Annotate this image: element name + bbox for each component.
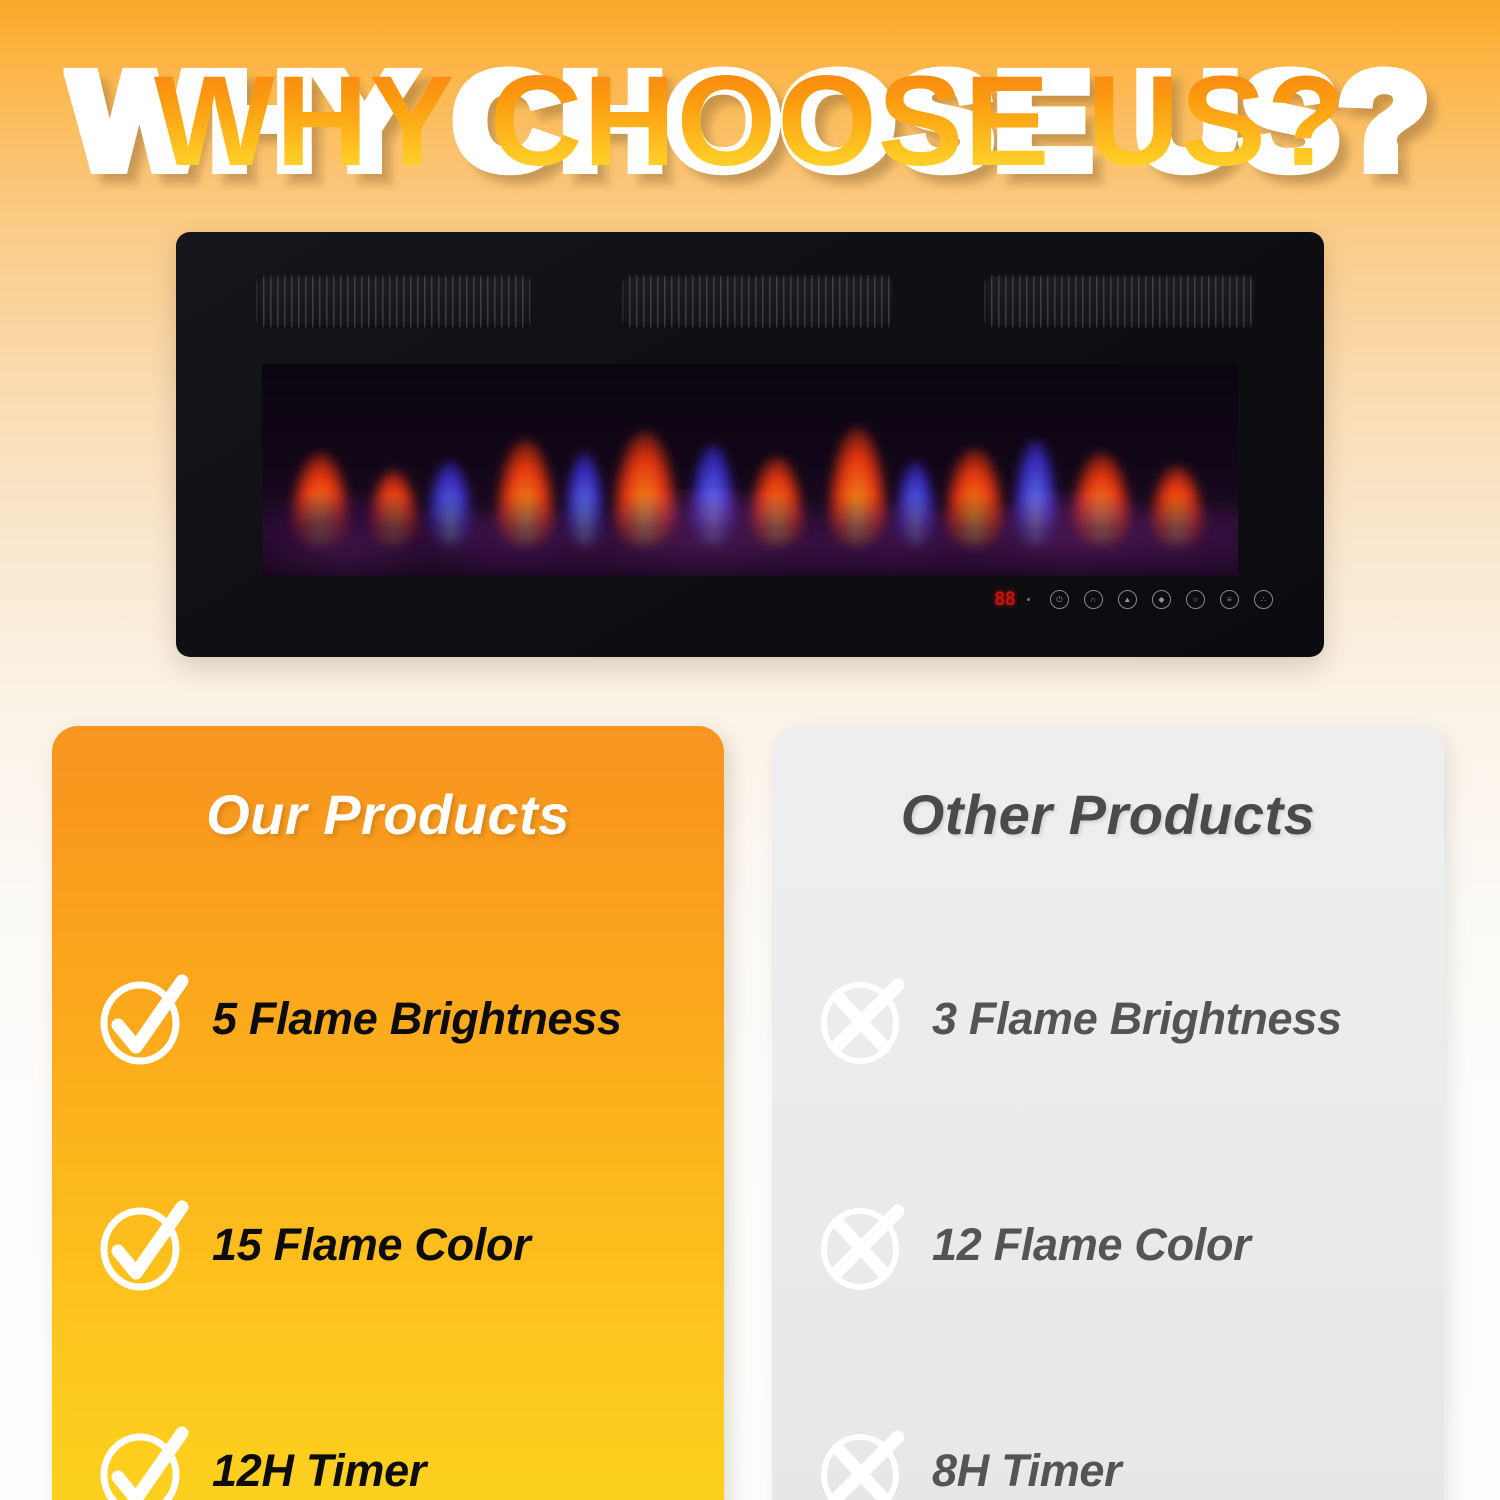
led-value: 88 [994, 590, 1015, 609]
feature-label: 12H Timer [212, 1445, 426, 1497]
cross-icon [818, 1199, 910, 1291]
flame-icon: ▲ [1123, 596, 1131, 604]
panel-our-products: Our Products 5 Flame Brightness [52, 726, 724, 1500]
feature-label: 15 Flame Color [212, 1219, 530, 1271]
flame-button[interactable]: ▲ [1118, 590, 1137, 609]
vent-grille-middle [622, 275, 894, 328]
feature-row: 15 Flame Color [52, 1132, 724, 1358]
led-indicator-dot [1027, 598, 1030, 601]
power-icon: ⏻ [1056, 596, 1062, 604]
cross-icon [818, 1425, 910, 1500]
feature-row: 12 Flame Color [772, 1132, 1444, 1358]
vent-grille-right [984, 275, 1256, 328]
feature-label: 5 Flame Brightness [212, 993, 622, 1045]
title-fill-layer: WHY CHOOSE US? [154, 50, 1346, 193]
log-bed-silhouette [262, 495, 1238, 576]
page-title: WHY CHOOSE US? WHY CHOOSE US? WHY CHOOSE… [0, 58, 1500, 186]
fireplace-glass-window [262, 364, 1238, 576]
mode-icon: ∴ [1261, 596, 1266, 604]
power-button[interactable]: ⏻ [1050, 590, 1069, 609]
mode-button[interactable]: ∴ [1254, 590, 1273, 609]
panel-title-other-products: Other Products [772, 782, 1444, 847]
title-outline-layer: WHY CHOOSE US? [70, 54, 1429, 190]
feature-label: 12 Flame Color [932, 1219, 1250, 1271]
brightness-icon: ◆ [1158, 596, 1164, 604]
feature-row: 3 Flame Brightness [772, 906, 1444, 1132]
check-icon [98, 973, 190, 1065]
temperature-button[interactable]: ≡ [1220, 590, 1239, 609]
feature-list-other-products: 3 Flame Brightness 12 Flame Color [772, 906, 1444, 1500]
feature-row: 12H Timer [52, 1358, 724, 1500]
check-icon [98, 1425, 190, 1500]
product-image-fireplace: 88 ⏻ ∩ ▲ ◆ ○ ≡ ∴ [176, 232, 1324, 657]
led-display: 88 [994, 590, 1015, 609]
feature-label: 8H Timer [932, 1445, 1121, 1497]
cross-icon [818, 973, 910, 1065]
heat-button[interactable]: ∩ [1084, 590, 1103, 609]
panel-other-products: Other Products 3 Flame Brightness [772, 726, 1444, 1500]
title-shadow-layer: WHY CHOOSE US? [81, 65, 1440, 201]
brightness-button[interactable]: ◆ [1152, 590, 1171, 609]
feature-list-our-products: 5 Flame Brightness 15 Flame Color [52, 906, 724, 1500]
panel-title-our-products: Our Products [52, 782, 724, 847]
vent-grille-left [256, 275, 532, 328]
timer-button[interactable]: ○ [1186, 590, 1205, 609]
feature-label: 3 Flame Brightness [932, 993, 1342, 1045]
heat-icon: ∩ [1091, 596, 1097, 604]
feature-row: 8H Timer [772, 1358, 1444, 1500]
check-icon [98, 1199, 190, 1291]
title-stack: WHY CHOOSE US? WHY CHOOSE US? WHY CHOOSE… [154, 58, 1346, 186]
feature-row: 5 Flame Brightness [52, 906, 724, 1132]
temperature-icon: ≡ [1227, 596, 1232, 604]
timer-icon: ○ [1193, 596, 1198, 604]
control-panel[interactable]: 88 ⏻ ∩ ▲ ◆ ○ ≡ ∴ [994, 590, 1273, 609]
why-choose-us-infographic: WHY CHOOSE US? WHY CHOOSE US? WHY CHOOSE… [0, 0, 1500, 1500]
